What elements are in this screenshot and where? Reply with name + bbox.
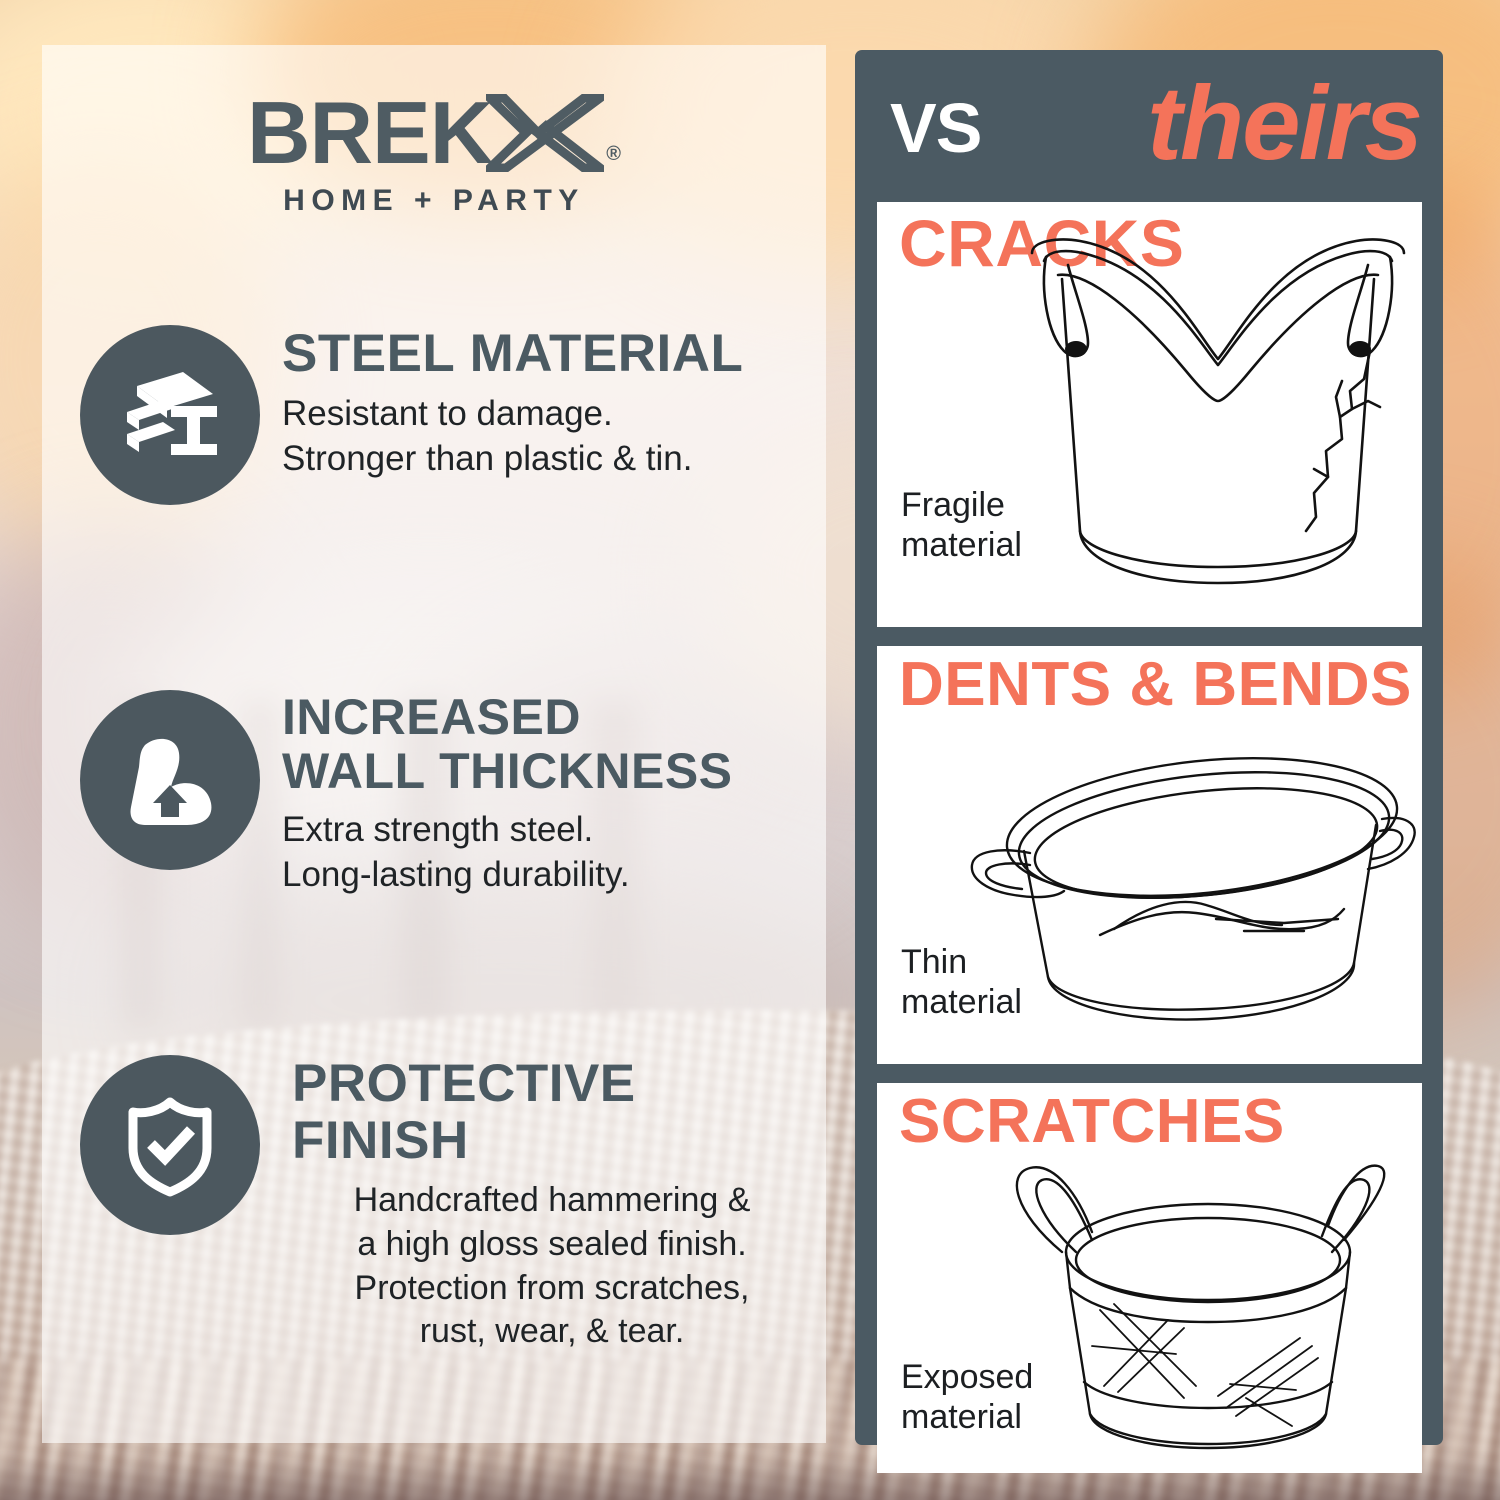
feature-body: Resistant to damage. Stronger than plast… (282, 392, 802, 482)
comparison-card-cracks: CRACKS Fragile material (877, 202, 1422, 627)
competitor-comparison-panel: VS theirs CRACKS Fragile material (855, 50, 1443, 1445)
card-title: SCRATCHES (899, 1091, 1285, 1153)
feature-body-line: a high gloss sealed finish. (292, 1223, 812, 1267)
shield-check-icon (80, 1055, 260, 1235)
card-caption-line: material (901, 525, 1022, 565)
card-caption: Fragile material (901, 485, 1022, 565)
feature-heading-line: PROTECTIVE (292, 1055, 812, 1112)
feature-heading: PROTECTIVE FINISH (292, 1055, 812, 1169)
feature-heading: STEEL MATERIAL (282, 325, 802, 382)
brand-features-panel: BREK ® HOME + PARTY (42, 45, 826, 1443)
brand-tagline: HOME + PARTY (42, 184, 826, 218)
steel-beam-icon (80, 325, 260, 505)
feature-heading-line: WALL THICKNESS (282, 744, 802, 798)
logo-x-icon (486, 94, 604, 172)
logo-wordmark: BREK ® (247, 93, 621, 172)
feature-text: PROTECTIVE FINISH Handcrafted hammering … (292, 1055, 812, 1354)
feature-text: INCREASED WALL THICKNESS Extra strength … (282, 690, 802, 898)
feature-heading-line: FINISH (292, 1112, 812, 1169)
feature-body-line: Stronger than plastic & tin. (282, 437, 802, 482)
feature-body-line: Extra strength steel. (282, 808, 802, 853)
comparison-card-scratches: SCRATCHES Exposed material (877, 1083, 1422, 1473)
card-title: DENTS & BENDS (899, 654, 1412, 716)
feature-heading-line: INCREASED (282, 690, 802, 744)
registered-trademark-icon: ® (606, 143, 621, 172)
feature-body: Extra strength steel. Long-lasting durab… (282, 808, 802, 898)
feature-text: STEEL MATERIAL Resistant to damage. Stro… (282, 325, 802, 482)
competitor-label: theirs (1147, 64, 1421, 184)
feature-heading: INCREASED WALL THICKNESS (282, 690, 802, 798)
feature-body-line: Protection from scratches, (292, 1267, 812, 1311)
comparison-header: VS theirs (855, 50, 1443, 200)
feature-body: Handcrafted hammering & a high gloss sea… (292, 1179, 812, 1353)
feature-body-line: rust, wear, & tear. (292, 1310, 812, 1354)
scratched-bucket-illustration (996, 1160, 1416, 1465)
logo-text: BREK (247, 93, 492, 172)
cracked-bucket-illustration (1018, 231, 1418, 621)
feature-body-line: Long-lasting durability. (282, 853, 802, 898)
feature-body-line: Resistant to damage. (282, 392, 802, 437)
comparison-card-dents-bends: DENTS & BENDS Thin material (877, 646, 1422, 1064)
card-caption-line: Fragile (901, 485, 1022, 525)
flexing-bicep-icon (80, 690, 260, 870)
brand-logo: BREK ® HOME + PARTY (42, 93, 826, 218)
vs-label: VS (890, 88, 981, 168)
feature-body-line: Handcrafted hammering & (292, 1179, 812, 1223)
dented-oval-tub-illustration (952, 741, 1422, 1046)
